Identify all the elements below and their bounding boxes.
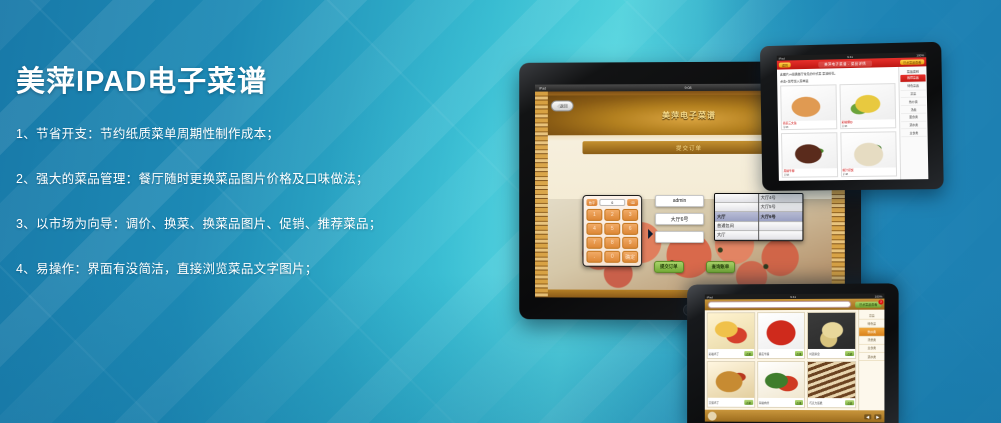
table-list-cell[interactable]: 大厅: [715, 212, 758, 221]
dish-card[interactable]: 鲍汁捞饭 ￥48: [840, 131, 897, 177]
dish-card[interactable]: 番茄牛腩 点菜: [757, 312, 805, 359]
status-battery: 100%: [916, 53, 924, 57]
dish-image: [808, 362, 855, 398]
keypad-key-8[interactable]: 8: [604, 237, 620, 249]
dish-image: [782, 133, 836, 169]
category-sidebar: 凉菜 特色菜 热炒类 汤羹类 主食类 酒水类: [858, 310, 884, 411]
dish-name: 宫保鸡丁: [709, 400, 719, 404]
back-button[interactable]: 返回: [779, 62, 791, 67]
dish-card[interactable]: 时蔬拼盘 点菜: [807, 312, 856, 359]
keypad-key-2[interactable]: 2: [604, 209, 620, 221]
order-button[interactable]: 点菜: [744, 351, 753, 356]
keypad-tag: 数字: [586, 199, 597, 206]
dish-grid: 此图片vs经典餐厅常见的中式菜 菜油料花。 点击+加号加入菜单篮 香煎三文鱼 ￥…: [777, 67, 900, 181]
status-time: 9:41: [847, 54, 853, 58]
query-bill-button[interactable]: 查询账单: [706, 261, 736, 273]
order-button[interactable]: 点菜: [795, 400, 804, 405]
dish-image: [758, 313, 804, 349]
dish-card[interactable]: 青椒肉丝 点菜: [757, 361, 805, 408]
category-item-drinks[interactable]: 酒水类: [859, 353, 884, 361]
keypad-key-4[interactable]: 4: [586, 223, 602, 235]
dish-card[interactable]: 彩椒鸡丁 点菜: [707, 312, 755, 359]
pointer-arrow-icon: [648, 229, 658, 239]
status-time: 9:41: [790, 294, 796, 298]
dish-caption: 彩椒爆炒 ￥38: [841, 119, 896, 128]
keypad-key-1[interactable]: 1: [586, 209, 602, 221]
dish-caption: 巧克力蛋糕 点菜: [808, 398, 855, 407]
dish-name: 巧克力蛋糕: [809, 401, 822, 405]
ornament-border-left: [535, 92, 548, 298]
dish-image: [708, 313, 754, 349]
dish-caption: 香煎三文鱼 ￥68: [782, 120, 836, 129]
topright-tablet-mockup: iPad 9:41 100% 返回 美萍电子菜谱 - 菜品详情 已点菜品查看 此…: [760, 42, 944, 191]
dish-image: [758, 362, 804, 398]
table-list-cell[interactable]: 大厅4号: [759, 194, 803, 203]
bottomright-tablet-screen: iPad 9:41 100% 已点菜品查看 3 彩椒鸡丁 点菜: [705, 294, 885, 423]
dish-image: [808, 313, 855, 349]
feature-item-4: 4、易操作：界面有没简洁，直接浏览菜品文字图片；: [16, 260, 446, 279]
dish-caption: 黑椒牛柳 ￥58: [783, 168, 837, 177]
dish-image: [840, 84, 895, 120]
feature-item-1: 1、节省开支：节约纸质菜单周期性制作成本；: [16, 125, 446, 144]
dish-caption: 宫保鸡丁 点菜: [708, 398, 754, 407]
status-battery: 100%: [875, 294, 883, 298]
order-button[interactable]: 点菜: [845, 351, 854, 356]
topright-tablet-screen: iPad 9:41 100% 返回 美萍电子菜谱 - 菜品详情 已点菜品查看 此…: [777, 52, 929, 181]
cart-button[interactable]: 已点菜品查看 3: [855, 301, 881, 307]
dish-card-list: 香煎三文鱼 ￥68 彩椒爆炒 ￥38 黑椒牛: [780, 83, 897, 178]
dish-caption: 时蔬拼盘 点菜: [808, 349, 855, 358]
cart-badge: 3: [878, 299, 883, 304]
table-list-cell[interactable]: [759, 231, 803, 240]
table-list-cell[interactable]: [759, 222, 803, 231]
home-indicator-icon: [708, 411, 717, 420]
back-button[interactable]: 返回: [551, 100, 574, 111]
table-selection-list[interactable]: 大厅 普通包间 大厅 大厅4号 大厅5号 大厅6号: [714, 193, 803, 241]
dish-caption: 番茄牛腩 点菜: [758, 349, 804, 358]
dish-grid: 彩椒鸡丁 点菜 番茄牛腩 点菜 时蔬拼盘 点菜: [705, 310, 858, 411]
keypad-key-0[interactable]: 0: [604, 251, 620, 263]
bottomright-tablet-mockup: iPad 9:41 100% 已点菜品查看 3 彩椒鸡丁 点菜: [687, 283, 898, 423]
cart-button[interactable]: 已点菜品查看: [900, 59, 924, 65]
category-item-staple[interactable]: 主食类: [901, 129, 926, 137]
dish-card[interactable]: 黑椒牛柳 ￥58: [781, 132, 838, 178]
category-item-cold[interactable]: 凉菜: [859, 312, 884, 320]
keypad-key-dot[interactable]: .: [586, 251, 602, 263]
table-list-cell[interactable]: 普通包间: [715, 222, 758, 231]
keypad-key-9[interactable]: 9: [622, 237, 638, 249]
table-list-cell[interactable]: 大厅: [715, 231, 758, 240]
keypad-key-3[interactable]: 3: [622, 209, 638, 221]
table-list-cell[interactable]: [715, 203, 758, 212]
search-input[interactable]: [708, 301, 851, 309]
dish-image: [708, 362, 754, 398]
prev-page-icon[interactable]: ◀: [864, 414, 871, 419]
keypad-key-6[interactable]: 6: [622, 223, 638, 235]
dish-card[interactable]: 宫保鸡丁 点菜: [707, 361, 755, 408]
keypad-display-row: 数字 6 ⌫: [586, 199, 638, 206]
status-carrier: iPad: [539, 86, 546, 90]
browse-body: 彩椒鸡丁 点菜 番茄牛腩 点菜 时蔬拼盘 点菜: [705, 310, 885, 411]
category-item-soup[interactable]: 汤羹类: [859, 336, 884, 344]
keypad-keys[interactable]: 1 2 3 4 5 6 7 8 9 . 0 确定: [586, 209, 638, 263]
numeric-keypad[interactable]: 数字 6 ⌫ 1 2 3 4 5 6 7 8 9 . 0 确定: [583, 195, 643, 267]
table-list-cell[interactable]: [715, 194, 758, 203]
keypad-display[interactable]: 6: [599, 199, 625, 206]
keypad-key-confirm[interactable]: 确定: [622, 251, 638, 263]
table-list-cell[interactable]: 大厅5号: [759, 203, 803, 212]
next-page-icon[interactable]: ▶: [874, 414, 881, 419]
status-carrier: iPad: [779, 56, 785, 60]
category-item-special[interactable]: 特色菜: [859, 320, 884, 328]
dish-card[interactable]: 香煎三文鱼 ￥68: [780, 84, 837, 130]
status-carrier: iPad: [707, 295, 713, 299]
cart-button-label: 已点菜品查看: [859, 302, 877, 306]
browse-bottom-bar: ◀ ▶: [705, 410, 885, 423]
table-list-right-column: 大厅4号 大厅5号 大厅6号: [759, 194, 803, 240]
login-form: admin 大厅6号: [655, 195, 704, 249]
header-title: 美萍电子菜谱 - 菜品详情: [818, 60, 872, 67]
dish-price: ￥48: [843, 171, 896, 176]
dish-image: [841, 132, 896, 168]
feature-list: 1、节省开支：节约纸质菜单周期性制作成本； 2、强大的菜品管理：餐厅随时更换菜品…: [16, 125, 446, 278]
feature-item-2: 2、强大的菜品管理：餐厅随时更换菜品图片价格及口味做法；: [16, 170, 446, 189]
marketing-copy: 美萍IPAD电子菜谱 1、节省开支：节约纸质菜单周期性制作成本； 2、强大的菜品…: [16, 66, 446, 304]
keypad-key-7[interactable]: 7: [586, 237, 602, 249]
dish-price: ￥58: [784, 172, 836, 177]
dish-caption: 彩椒鸡丁 点菜: [708, 349, 754, 358]
feature-item-3: 3、以市场为向导：调价、换菜、换菜品图片、促销、推荐菜品；: [16, 215, 446, 234]
order-button[interactable]: 点菜: [795, 351, 804, 356]
dish-name: 番茄牛腩: [759, 352, 769, 356]
submit-order-button[interactable]: 提交订单: [654, 261, 684, 273]
table-list-left-column: 大厅 普通包间 大厅: [715, 194, 759, 240]
dish-detail-body: 此图片vs经典餐厅常见的中式菜 菜油料花。 点击+加号加入菜单篮 香煎三文鱼 ￥…: [777, 66, 928, 181]
category-item-stirfry[interactable]: 热炒类: [859, 328, 884, 336]
page-title: 美萍IPAD电子菜谱: [16, 66, 446, 99]
order-button[interactable]: 点菜: [845, 400, 854, 405]
status-time: 9:08: [685, 85, 692, 89]
username-field[interactable]: admin: [655, 195, 704, 207]
table-list-cell[interactable]: 大厅6号: [759, 212, 803, 221]
password-field[interactable]: [655, 231, 704, 243]
dish-card[interactable]: 巧克力蛋糕 点菜: [807, 361, 856, 408]
browse-toolbar: 已点菜品查看 3: [705, 299, 885, 311]
backspace-icon[interactable]: ⌫: [627, 199, 638, 206]
dish-caption: 鲍汁捞饭 ￥48: [841, 167, 896, 176]
dish-name: 彩椒鸡丁: [709, 352, 719, 356]
app-title: 美萍电子菜谱: [662, 109, 716, 120]
pagination-controls: ◀ ▶: [864, 414, 881, 419]
dish-name: 青椒肉丝: [759, 400, 769, 404]
dish-name: 时蔬拼盘: [809, 351, 819, 355]
submit-order-bar-label: 提交订单: [676, 143, 702, 151]
category-item-staple[interactable]: 主食类: [859, 345, 884, 353]
dish-caption: 青椒肉丝 点菜: [758, 398, 804, 407]
category-sidebar: 菜品类别 推荐菜品 特色菜品 凉菜 热炒类 汤类 面食类 酒水类 主食类: [898, 66, 928, 179]
keypad-key-5[interactable]: 5: [604, 223, 620, 235]
dish-image: [781, 85, 835, 121]
table-field[interactable]: 大厅6号: [655, 213, 704, 225]
dish-card[interactable]: 彩椒爆炒 ￥38: [839, 83, 896, 129]
action-buttons: 提交订单 查询账单: [654, 261, 735, 273]
order-button[interactable]: 点菜: [744, 400, 753, 405]
